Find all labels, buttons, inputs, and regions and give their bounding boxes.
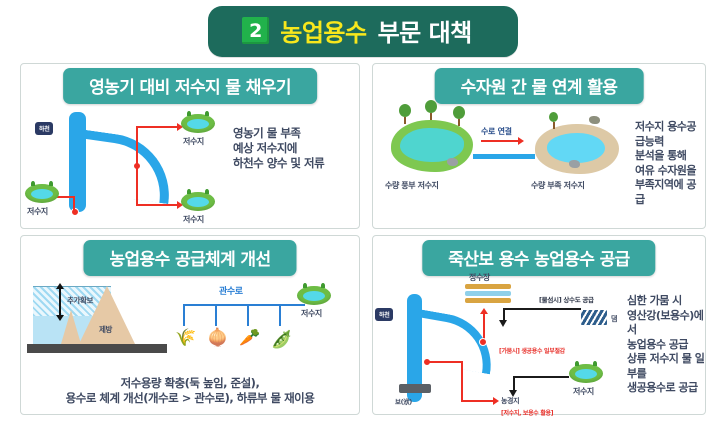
tree-icon-1 <box>399 104 411 124</box>
panel-juksanbo: 죽산보 용수 농업용수 공급 하천 보(洑) 정수장 <box>366 229 712 415</box>
river-label-badge-panel4: 하천 <box>375 308 393 321</box>
title-banner-wrap: 2 농업용수 부문 대책 <box>0 6 726 57</box>
rock-icon-2 <box>589 116 600 124</box>
canal-link-label: 수로 연결 <box>481 126 512 137</box>
reservoir-label-left: 저수지 <box>27 206 48 217</box>
panel-1-notes: 영농기 물 부족 예상 저수지에 하천수 양수 및 저류 <box>233 126 324 172</box>
panel-2-note-line-4: 부족지역에 공급 <box>635 178 705 207</box>
panel-4-body: 하천 보(洑) 정수장 댐 [물섬시] 상수도 공급 <box>373 272 705 414</box>
canal-pipe <box>473 154 535 159</box>
red-route-left-v <box>73 196 75 212</box>
panel-3-note-line-1: 저수용량 확충(둑 높임, 준설), <box>21 376 359 391</box>
red-route-up <box>136 126 138 166</box>
pipeline-drop-1 <box>183 304 185 326</box>
panel-4-notes: 심한 가뭄 시 영산강(보용수)에서 농업용수 공급 상류 저수지 물 일부를 … <box>627 294 705 396</box>
panel-2-body: 수량 풍부 저수지 수로 연결 수량 부족 저수지 <box>373 100 705 228</box>
pipe-canal-label: 관수로 <box>219 284 243 297</box>
pipeline-drop-2 <box>215 304 217 326</box>
panel-4-frame: 죽산보 용수 농업용수 공급 하천 보(洑) 정수장 <box>372 235 706 415</box>
panel-4-heading: 죽산보 용수 농업용수 공급 <box>422 240 655 276</box>
panel-1-heading: 영농기 대비 저수지 물 채우기 <box>63 68 317 104</box>
pipeline-main <box>183 304 305 306</box>
farmland-label: 농경지 <box>501 396 519 406</box>
crop-icon-carrot: 🥕 <box>239 330 260 347</box>
dam-to-plant-line <box>503 308 581 310</box>
panel-2-frame: 수자원 간 물 연계 활용 수량 풍부 저수지 <box>372 63 706 229</box>
embankment-label: 제방 <box>99 324 112 335</box>
canal-red-arrow-head <box>518 137 524 145</box>
panel-3-heading: 농업용수 공급체계 개선 <box>83 240 296 276</box>
red-farm-arrow <box>493 397 499 405</box>
river-label-badge: 하천 <box>35 122 53 135</box>
canal-red-arrow-line <box>481 140 519 142</box>
dam-supply-note: [물섬시] 상수도 공급 <box>539 294 594 304</box>
pipeline-drop-3 <box>247 304 249 326</box>
panel-3-frame: 농업용수 공급체계 개선 추가확보 제방 <box>20 235 360 415</box>
dam-measure-arrow <box>59 288 61 316</box>
panel-3-note-line-2: 용수로 체계 개선(개수로 > 관수로), 하류부 물 재이용 <box>21 391 359 406</box>
panel-water-linkage: 수자원 간 물 연계 활용 수량 풍부 저수지 <box>366 57 712 229</box>
title-banner: 2 농업용수 부문 대책 <box>208 6 518 57</box>
red-farm-line-h2 <box>461 400 495 402</box>
panel-1-note-line-1: 영농기 물 부족 <box>233 126 324 141</box>
reservoir-label-top: 저수지 <box>183 136 204 147</box>
intake-node-plant <box>479 338 487 346</box>
tree-icon-2 <box>425 100 437 120</box>
section-number-badge: 2 <box>242 17 269 44</box>
river-branch-shape <box>77 130 177 204</box>
reservoir-label-bottom: 저수지 <box>183 214 204 225</box>
infographic-page: 2 농업용수 부문 대책 영농기 대비 저수지 물 채우기 하천 <box>0 0 726 425</box>
lake-dry-label: 수량 부족 저수지 <box>531 180 585 191</box>
drought-note: [가뭄시] 생공용수 일부절감 <box>499 346 565 355</box>
red-route-bottom <box>136 204 178 206</box>
panel-1-frame: 영농기 대비 저수지 물 채우기 하천 <box>20 63 360 229</box>
crop-icon-pea: 🫛 <box>271 332 292 349</box>
rock-icon-1 <box>447 158 458 166</box>
panel-2-notes: 저수지 용수공급능력 분석을 통해 여유 수자원을 부족지역에 공급 <box>635 120 705 207</box>
red-up-arrow-plant <box>480 308 488 314</box>
pipe-canal-diagram: 관수로 🌾 🧅 🥕 🫛 저 <box>171 278 351 374</box>
dam-step-shape <box>61 310 81 344</box>
reservoir-icon-panel4 <box>569 364 603 383</box>
panel-4-note-line-1: 심한 가뭄 시 <box>627 294 705 309</box>
panel-2-note-line-2: 분석을 통해 <box>635 149 705 164</box>
dam-icon <box>581 310 607 325</box>
panel-3-body: 추가확보 제방 관수로 🌾 🧅 🥕 🫛 <box>21 272 359 414</box>
dam-base-shape <box>27 344 167 353</box>
panel-2-note-line-1: 저수지 용수공급능력 <box>635 120 705 149</box>
lake-full-shape <box>391 120 473 172</box>
red-route-top <box>136 126 178 128</box>
red-farm-line-v <box>461 361 463 401</box>
panel-supply-system: 농업용수 공급체계 개선 추가확보 제방 <box>14 229 366 415</box>
dam-cross-section: 추가확보 제방 <box>27 280 167 360</box>
reservoir-icon-bottom <box>181 192 215 211</box>
panel-2-note-line-3: 여유 수자원을 <box>635 164 705 179</box>
red-farm-line-h1 <box>429 361 463 363</box>
crop-icon-onion: 🧅 <box>207 330 228 347</box>
panel-3-notes: 저수용량 확충(둑 높임, 준설), 용수로 체계 개선(개수로 > 관수로),… <box>21 376 359 406</box>
weir-shape <box>399 384 431 393</box>
crop-icon-rice: 🌾 <box>175 330 196 347</box>
panel-4-note-line-3: 농업용수 공급 <box>627 338 705 353</box>
reservoir-label-panel4: 저수지 <box>573 386 594 397</box>
weir-label: 보(洑) <box>395 396 412 406</box>
panel-reservoir-fill: 영농기 대비 저수지 물 채우기 하천 <box>14 57 366 229</box>
extra-capacity-label: 추가확보 <box>67 295 93 306</box>
water-plant-label: 정수장 <box>469 272 490 283</box>
tree-icon-3 <box>453 106 465 126</box>
water-plant-icon <box>465 284 511 305</box>
reservoir-icon-top <box>181 114 215 133</box>
reservoir-icon-left <box>25 184 59 203</box>
panel-1-note-line-2: 예상 저수지에 <box>233 141 324 156</box>
panels-grid: 영농기 대비 저수지 물 채우기 하천 <box>14 57 712 415</box>
rock-icon-3 <box>569 160 580 168</box>
panel-1-body: 하천 <box>21 100 359 228</box>
banner-title-rest: 부문 대책 <box>378 13 472 48</box>
panel-4-note-line-4: 상류 저수지 물 일부를 <box>627 352 705 381</box>
dam-to-plant-arrow <box>499 320 507 327</box>
farmland-note: [저수지, 보용수 활용] <box>501 408 553 417</box>
pipeline-drop-4 <box>279 304 281 326</box>
reservoir-label-panel3: 저수지 <box>301 308 322 319</box>
reservoir-icon-panel3 <box>297 286 331 305</box>
panel-4-note-line-5: 생공용수로 공급 <box>627 381 705 396</box>
banner-title-highlight: 농업용수 <box>280 13 366 48</box>
panel-1-note-line-3: 하천수 양수 및 저류 <box>233 156 324 171</box>
red-route-down <box>136 164 138 206</box>
lake-full-label: 수량 풍부 저수지 <box>385 180 439 191</box>
panel-2-heading: 수자원 간 물 연계 활용 <box>435 68 644 104</box>
tree-icon-4 <box>549 112 558 129</box>
panel-4-note-line-2: 영산강(보용수)에서 <box>627 309 705 338</box>
dam-label: 댐 <box>611 314 617 324</box>
reservoir-to-farm-line <box>513 376 569 378</box>
